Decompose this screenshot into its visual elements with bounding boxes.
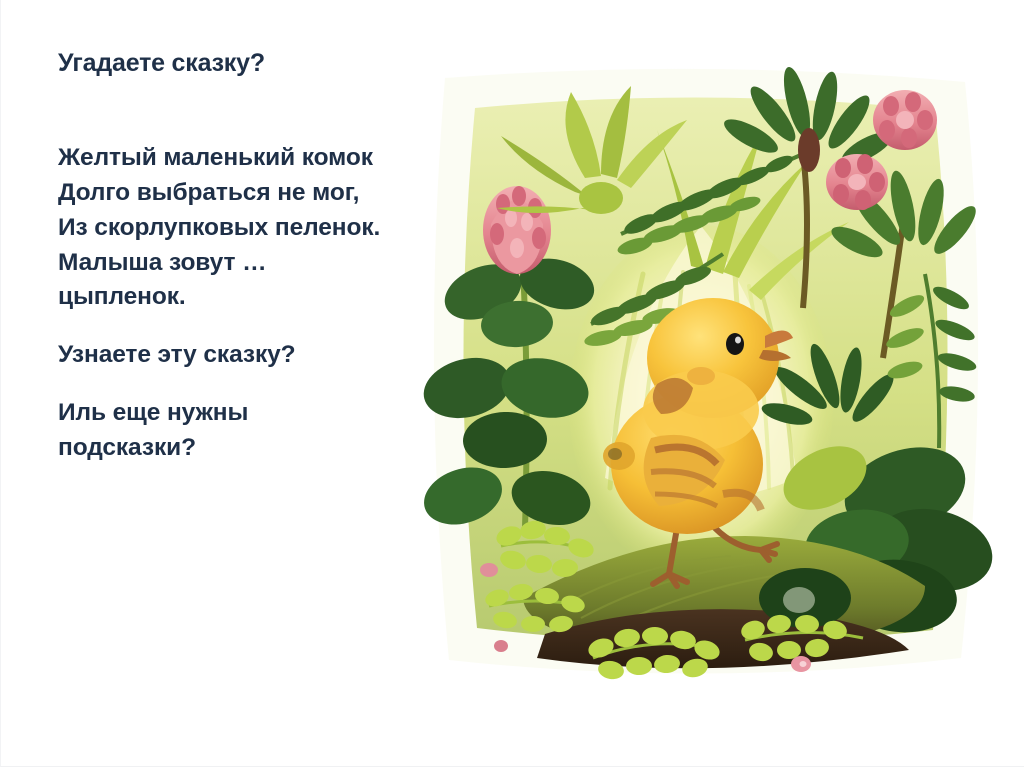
poem-block: Желтый маленький комок Долго выбраться н… [58, 141, 388, 465]
slide: Угадаете сказку? Желтый маленький комок … [0, 0, 1024, 767]
chick-in-meadow-illustration [405, 58, 1005, 698]
clover-flower-left [483, 186, 551, 274]
poem-question-1: Узнаете эту сказку? [58, 338, 388, 373]
text-column: Угадаете сказку? Желтый маленький комок … [58, 48, 388, 466]
chick-eye [726, 333, 744, 355]
poem-body: Желтый маленький комок Долго выбраться н… [58, 141, 388, 315]
page-title: Угадаете сказку? [58, 48, 388, 79]
clover-flower-right-mid [826, 154, 888, 210]
clover-flower-right-top [873, 90, 937, 150]
illustration-canvas [405, 58, 1005, 698]
poem-question-2: Иль еще нужны подсказки? [58, 396, 388, 466]
